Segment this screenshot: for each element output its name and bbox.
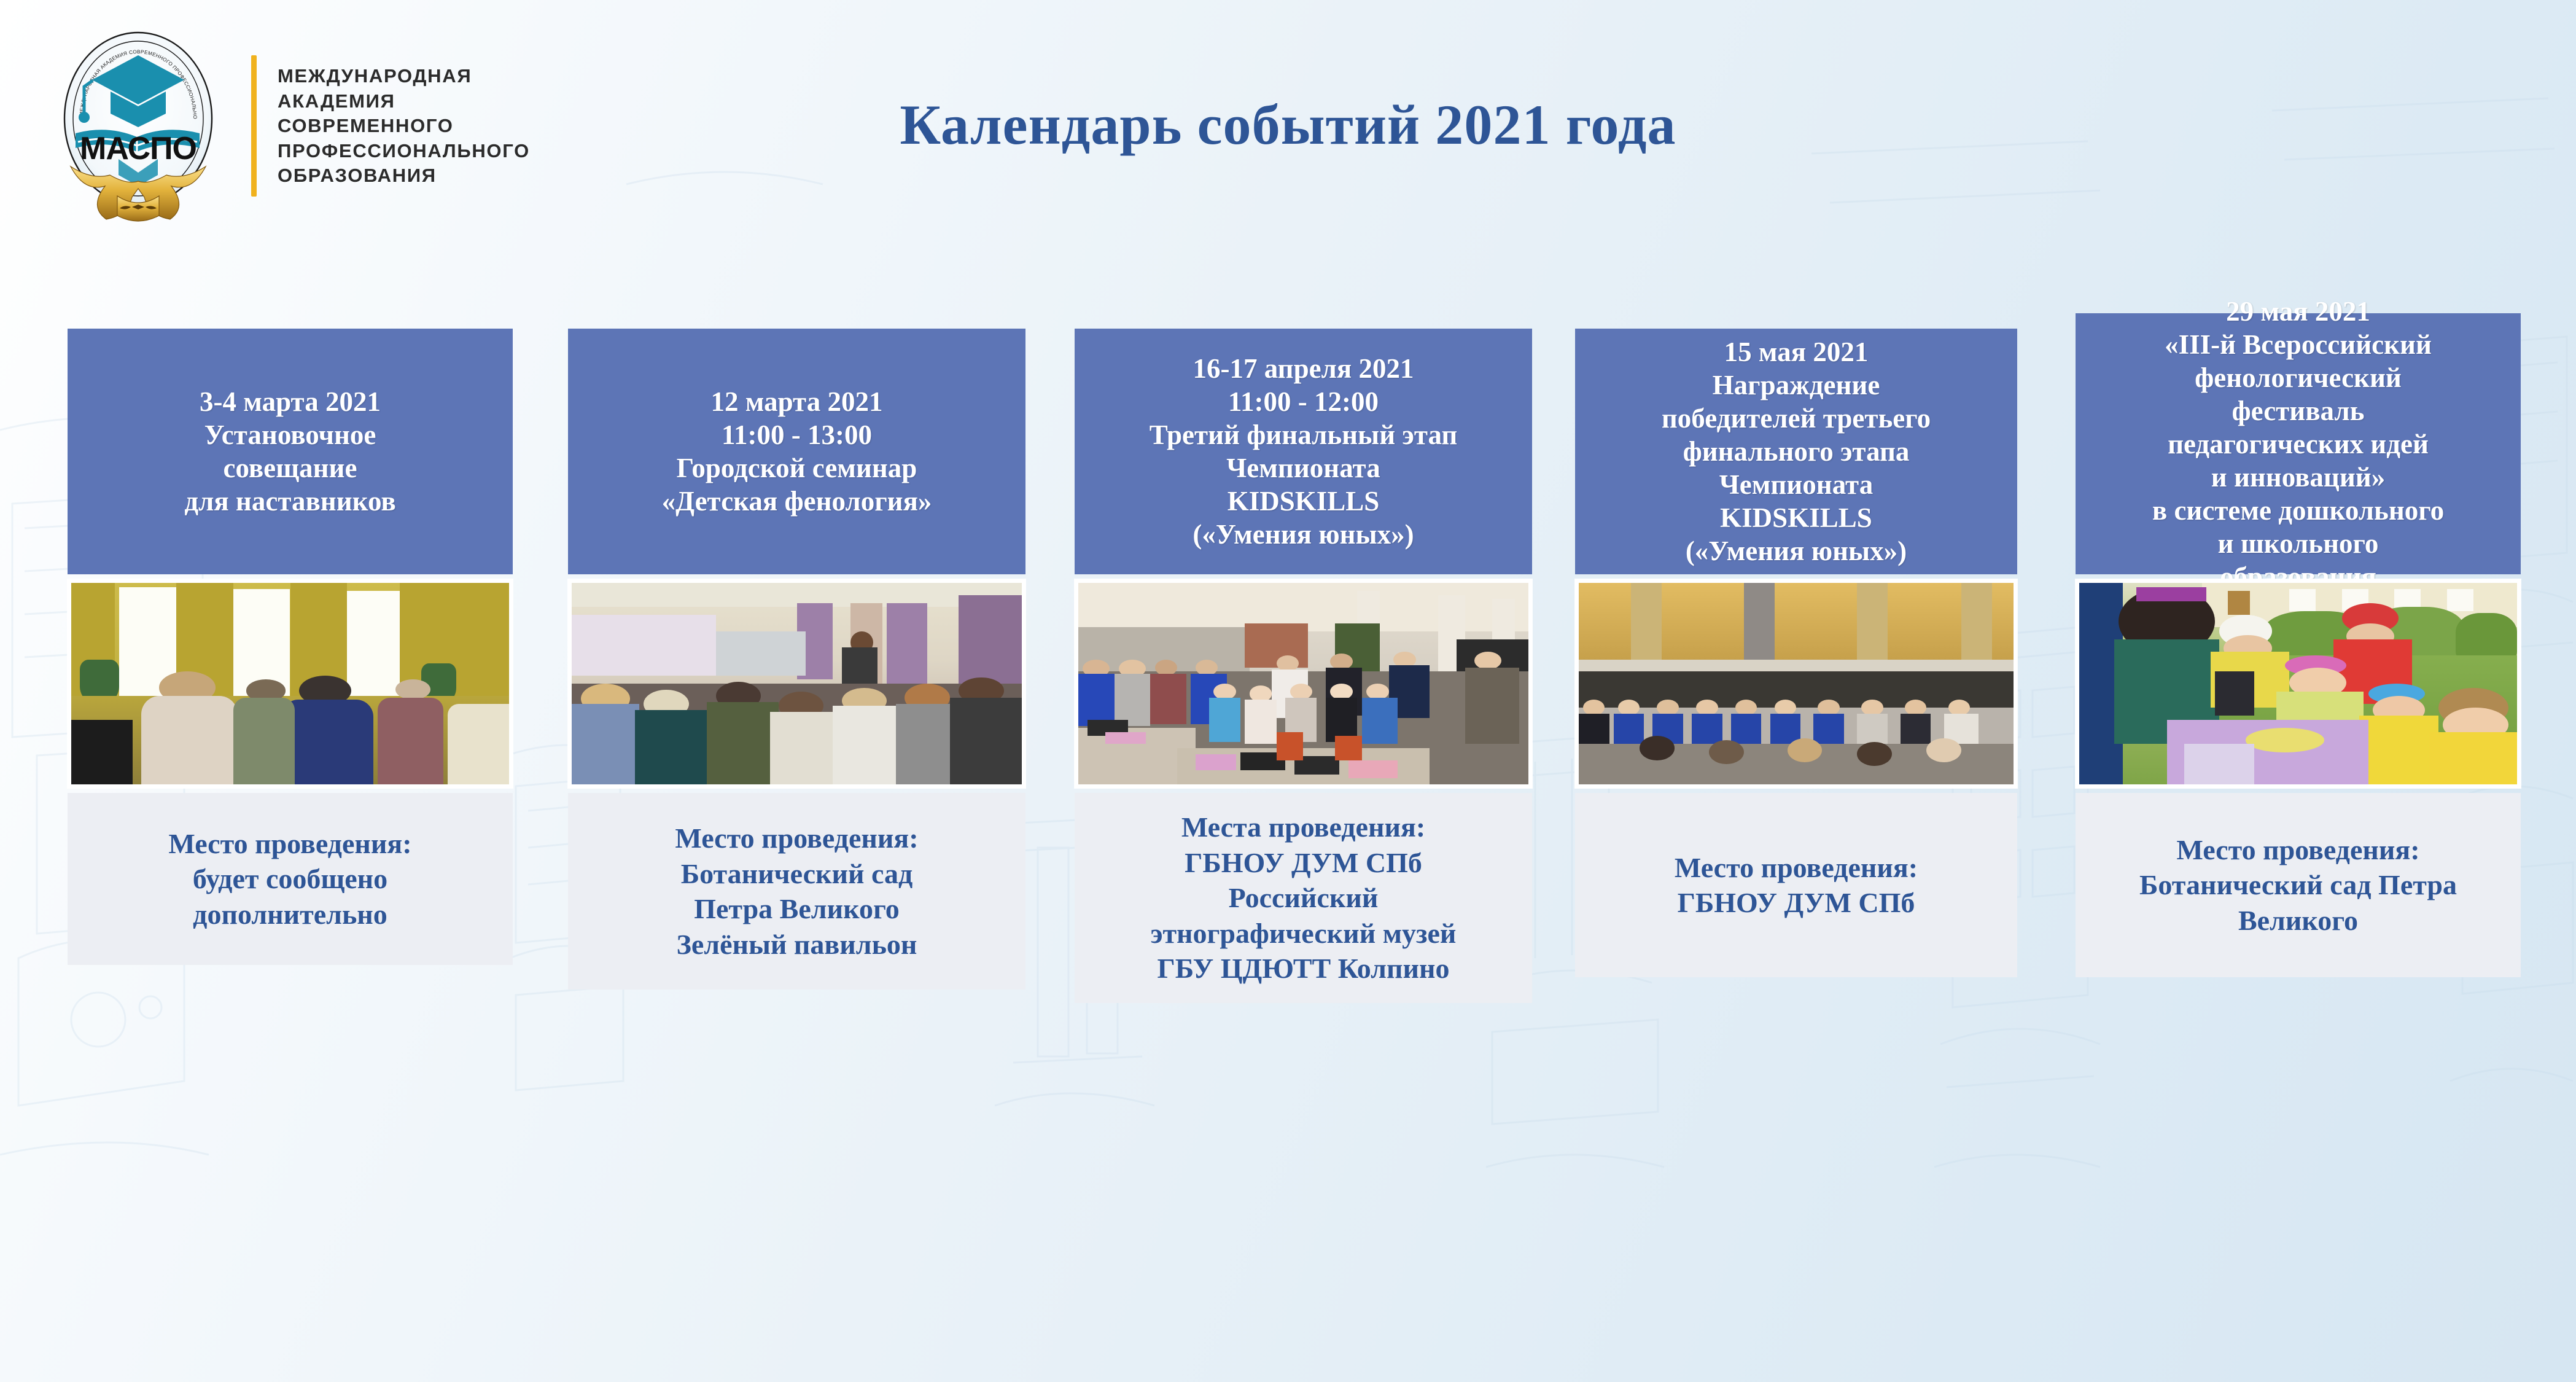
event-card-3-header: 16-17 апреля 2021 11:00 - 12:00 Третий ф… [1075,329,1532,574]
event-card-4-header: 15 мая 2021 Награждение победителей трет… [1575,329,2017,574]
event-card-1-footer-text: Место проведения: будет сообщено дополни… [168,826,411,932]
event-card-1-header: 3-4 марта 2021 Установочное совещание дл… [68,329,513,574]
event-card-3-footer: Места проведения: ГБНОУ ДУМ СПб Российск… [1075,793,1532,1003]
event-card-1[interactable]: 3-4 марта 2021 Установочное совещание дл… [68,329,513,965]
event-card-5-header: 29 мая 2021 «III-й Всероссийский фенолог… [2076,313,2521,574]
event-card-4[interactable]: 15 мая 2021 Награждение победителей трет… [1575,329,2017,977]
event-card-2[interactable]: 12 марта 2021 11:00 - 13:00 Городской се… [568,329,1025,990]
event-card-4-footer: Место проведения: ГБНОУ ДУМ СПб [1575,793,2017,977]
event-card-5-footer-text: Место проведения: Ботанический сад Петра… [2139,832,2457,939]
events-grid: 3-4 марта 2021 Установочное совещание дл… [0,0,2576,1382]
event-card-2-footer-text: Место проведения: Ботанический сад Петра… [675,821,918,962]
event-card-3-footer-text: Места проведения: ГБНОУ ДУМ СПб Российск… [1151,810,1457,986]
event-card-3[interactable]: 16-17 апреля 2021 11:00 - 12:00 Третий ф… [1075,329,1532,1003]
event-card-2-photo [568,579,1025,788]
event-card-1-photo [68,579,513,788]
event-card-1-footer: Место проведения: будет сообщено дополни… [68,793,513,965]
event-card-3-photo [1075,579,1532,788]
event-card-5[interactable]: 29 мая 2021 «III-й Всероссийский фенолог… [2076,313,2521,977]
event-card-5-footer: Место проведения: Ботанический сад Петра… [2076,793,2521,977]
event-card-5-photo [2076,579,2521,788]
event-card-2-footer: Место проведения: Ботанический сад Петра… [568,793,1025,990]
event-card-5-header-text: 29 мая 2021 «III-й Всероссийский фенолог… [2152,295,2444,593]
event-card-4-header-text: 15 мая 2021 Награждение победителей трет… [1662,335,1931,568]
event-card-2-header-text: 12 марта 2021 11:00 - 13:00 Городской се… [662,385,932,518]
event-card-4-footer-text: Место проведения: ГБНОУ ДУМ СПб [1675,850,1918,921]
event-card-1-header-text: 3-4 марта 2021 Установочное совещание дл… [184,385,395,518]
event-card-2-header: 12 марта 2021 11:00 - 13:00 Городской се… [568,329,1025,574]
event-card-4-photo [1575,579,2017,788]
event-card-3-header-text: 16-17 апреля 2021 11:00 - 12:00 Третий ф… [1150,352,1458,551]
